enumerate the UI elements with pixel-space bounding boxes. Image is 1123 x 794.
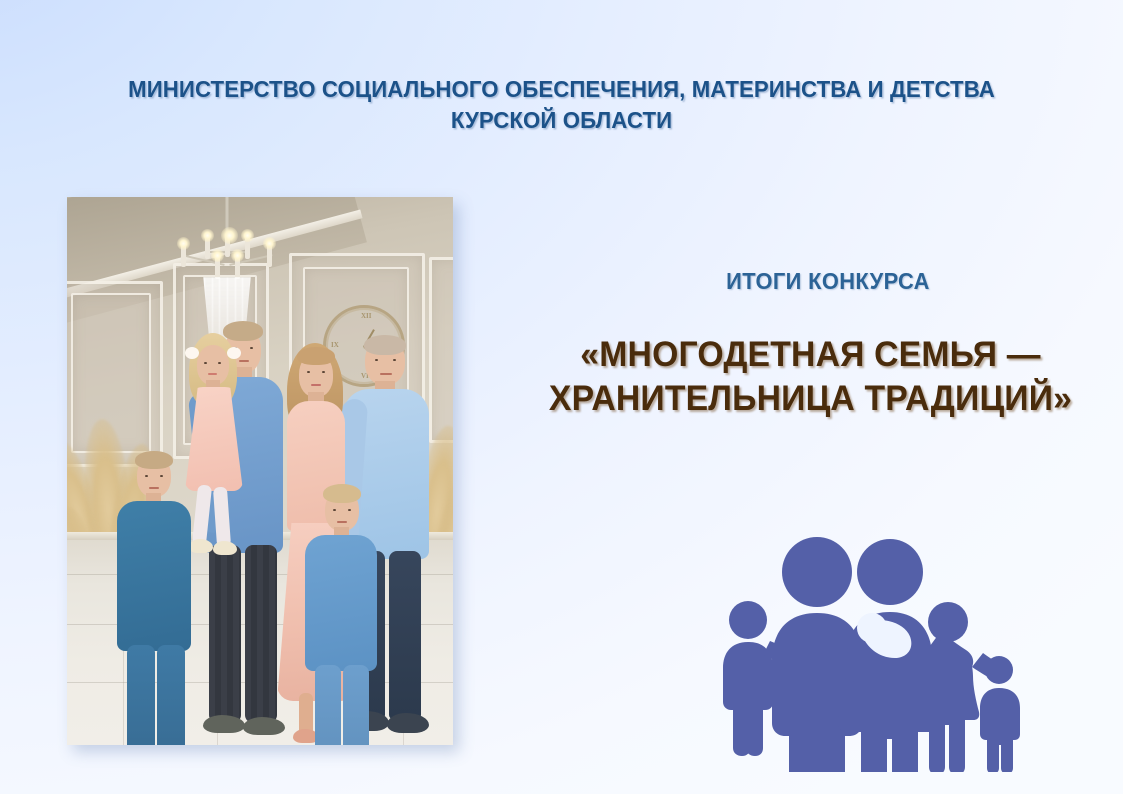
young-boy-leg-left xyxy=(315,665,341,745)
young-boy-leg-right xyxy=(343,665,369,745)
contest-title: «МНОГОДЕТНАЯ СЕМЬЯ — ХРАНИТЕЛЬНИЦА ТРАДИ… xyxy=(514,332,1108,420)
chandelier-flame-5 xyxy=(263,237,276,250)
clock-numeral: XII xyxy=(361,312,372,320)
chandelier-flame-2 xyxy=(201,229,214,242)
person-young-boy xyxy=(303,489,383,745)
father-hair xyxy=(364,335,406,355)
chandelier-flame-1 xyxy=(177,237,190,250)
family-pictogram xyxy=(705,522,1025,772)
page-title: МИНИСТЕРСТВО СОЦИАЛЬНОГО ОБЕСПЕЧЕНИЯ, МА… xyxy=(31,74,1092,136)
teen-boy-shirt xyxy=(117,501,191,651)
young-man-shoe-left xyxy=(203,715,245,733)
young-boy-hair xyxy=(323,484,361,503)
teen-boy-hair xyxy=(135,451,173,469)
chandelier-flame-7 xyxy=(231,249,244,262)
father-shoe-right xyxy=(387,713,429,733)
family-pictogram-svg xyxy=(705,522,1025,772)
person-teen-boy xyxy=(115,455,201,745)
pictogram-small-child-icon xyxy=(980,656,1020,772)
chandelier-flame-6 xyxy=(211,249,224,262)
father-leg-right xyxy=(389,551,421,719)
teen-boy-leg-left xyxy=(127,645,155,745)
girl-head xyxy=(197,345,229,385)
girl-bow-right xyxy=(227,347,241,359)
girl-bow-left xyxy=(185,347,199,359)
chandelier-flame-4 xyxy=(241,229,254,242)
young-man-shoe-right xyxy=(243,717,285,735)
teen-boy-leg-right xyxy=(157,645,185,745)
mother-hair-front xyxy=(297,347,335,365)
chandelier-flame-3 xyxy=(221,227,238,244)
poster-canvas: МИНИСТЕРСТВО СОЦИАЛЬНОГО ОБЕСПЕЧЕНИЯ, МА… xyxy=(0,0,1123,794)
family-photo: XII III VI IX xyxy=(67,197,453,745)
young-boy-shirt xyxy=(305,535,377,671)
girl-leg-right xyxy=(213,487,231,548)
girl-shoe-right xyxy=(213,541,237,555)
family-photo-image: XII III VI IX xyxy=(67,197,453,745)
contest-results-kicker: ИТОГИ КОНКУРСА xyxy=(548,268,1109,295)
